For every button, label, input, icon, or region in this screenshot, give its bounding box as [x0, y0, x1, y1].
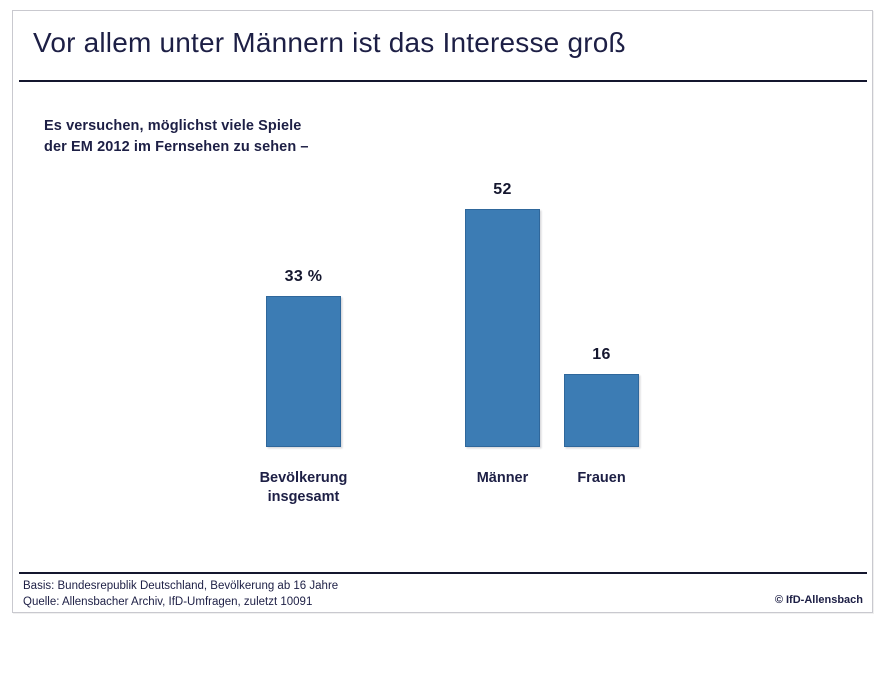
- bar-category-label-line: Frauen: [509, 469, 694, 488]
- footer: Basis: Bundesrepublik Deutschland, Bevöl…: [13, 574, 874, 614]
- source-basis-line: Basis: Bundesrepublik Deutschland, Bevöl…: [23, 578, 338, 594]
- bar-value-label: 52: [435, 181, 570, 199]
- bar: [266, 296, 341, 447]
- bar-value-label: 16: [534, 346, 669, 364]
- bar-category-label: Frauen: [509, 469, 694, 488]
- source-quelle-line: Quelle: Allensbacher Archiv, IfD-Umfrage…: [23, 594, 338, 610]
- copyright-notice: © IfD-Allensbach: [775, 594, 863, 606]
- bar: [465, 209, 540, 447]
- bar: [564, 374, 639, 447]
- source-note: Basis: Bundesrepublik Deutschland, Bevöl…: [23, 578, 338, 610]
- bar-category-label-line: insgesamt: [211, 488, 396, 507]
- bar-category-label: Bevölkerunginsgesamt: [211, 469, 396, 507]
- bar-chart-plot-area: 33 %Bevölkerunginsgesamt52Männer16Frauen: [13, 11, 874, 571]
- bar-value-label: 33 %: [236, 268, 371, 286]
- bar-category-label-line: Bevölkerung: [211, 469, 396, 488]
- slide-frame: Vor allem unter Männern ist das Interess…: [12, 10, 873, 613]
